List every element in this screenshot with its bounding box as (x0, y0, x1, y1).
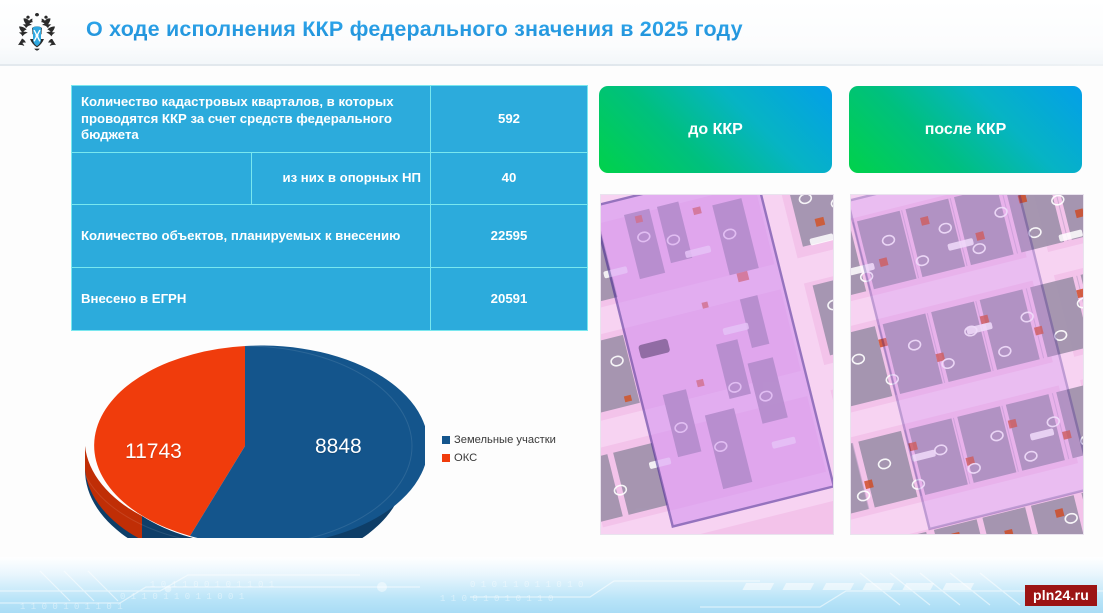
watermark: pln24.ru (1025, 585, 1097, 606)
legend-swatch-icon (442, 454, 450, 462)
legend-swatch-icon (442, 436, 450, 444)
cadastral-map-after (850, 194, 1084, 535)
legend-label: ОКС (454, 452, 477, 464)
table-cell-value: 20591 (431, 268, 588, 331)
table-row: Количество кадастровых кварталов, в кото… (72, 86, 588, 153)
svg-text:0 1 0 1 1 0 1 1 0 1 0: 0 1 0 1 1 0 1 1 0 1 0 (470, 580, 583, 590)
slide-header: О ходе исполнения ККР федерального значе… (0, 0, 1103, 66)
label-before-kkr-text: до ККР (688, 121, 743, 139)
table-row: Внесено в ЕГРН 20591 (72, 268, 588, 331)
rosreestr-eagle-emblem (10, 6, 64, 60)
pie-chart: 8848 11743 Земельные участки ОКС (60, 330, 580, 545)
label-after-kkr: после ККР (849, 86, 1082, 173)
page-title: О ходе исполнения ККР федерального значе… (86, 17, 743, 42)
slide-root: О ходе исполнения ККР федерального значе… (0, 0, 1103, 613)
pie-chart-canvas: 8848 11743 (70, 338, 425, 538)
table-cell-value: 40 (431, 153, 588, 205)
slide-footer: 1 0 1 1 0 0 1 0 1 1 0 1 0 1 1 0 1 1 0 1 … (0, 557, 1103, 613)
label-before-kkr: до ККР (599, 86, 832, 173)
pie-label-oks: 11743 (125, 440, 182, 464)
pie-label-zemelnye: 8848 (315, 435, 362, 459)
svg-text:0 1 1 0 1 1 0 1 1 0 0 1: 0 1 1 0 1 1 0 1 1 0 0 1 (120, 592, 244, 602)
chart-legend: Земельные участки ОКС (442, 434, 556, 470)
legend-item-oks: ОКС (442, 452, 556, 464)
footer-circuit-decoration: 1 0 1 1 0 0 1 0 1 1 0 1 0 1 1 0 1 1 0 1 … (0, 557, 1103, 613)
table-cell-empty (72, 153, 252, 205)
svg-text:1 1 0 0 1 0 1 0 1 1 0: 1 1 0 0 1 0 1 0 1 1 0 (440, 594, 553, 604)
table-cell-label: Количество объектов, планируемых к внесе… (72, 205, 431, 268)
svg-text:1 0 1 1 0 0 1 0 1 1 0 1: 1 0 1 1 0 0 1 0 1 1 0 1 (150, 580, 274, 590)
svg-text:1 1 0 0 1 0 1 1 0 1: 1 1 0 0 1 0 1 1 0 1 (20, 602, 123, 612)
table-cell-sublabel: из них в опорных НП (251, 153, 431, 205)
legend-label: Земельные участки (454, 434, 556, 446)
cadastral-map-before (600, 194, 834, 535)
table-cell-label: Количество кадастровых кварталов, в кото… (72, 86, 431, 153)
table-cell-value: 592 (431, 86, 588, 153)
table-cell-value: 22595 (431, 205, 588, 268)
summary-table: Количество кадастровых кварталов, в кото… (71, 85, 588, 331)
table-row: из них в опорных НП 40 (72, 153, 588, 205)
table-cell-label: Внесено в ЕГРН (72, 268, 431, 331)
table-row: Количество объектов, планируемых к внесе… (72, 205, 588, 268)
legend-item-zemelnye: Земельные участки (442, 434, 556, 446)
label-after-kkr-text: после ККР (925, 121, 1007, 139)
